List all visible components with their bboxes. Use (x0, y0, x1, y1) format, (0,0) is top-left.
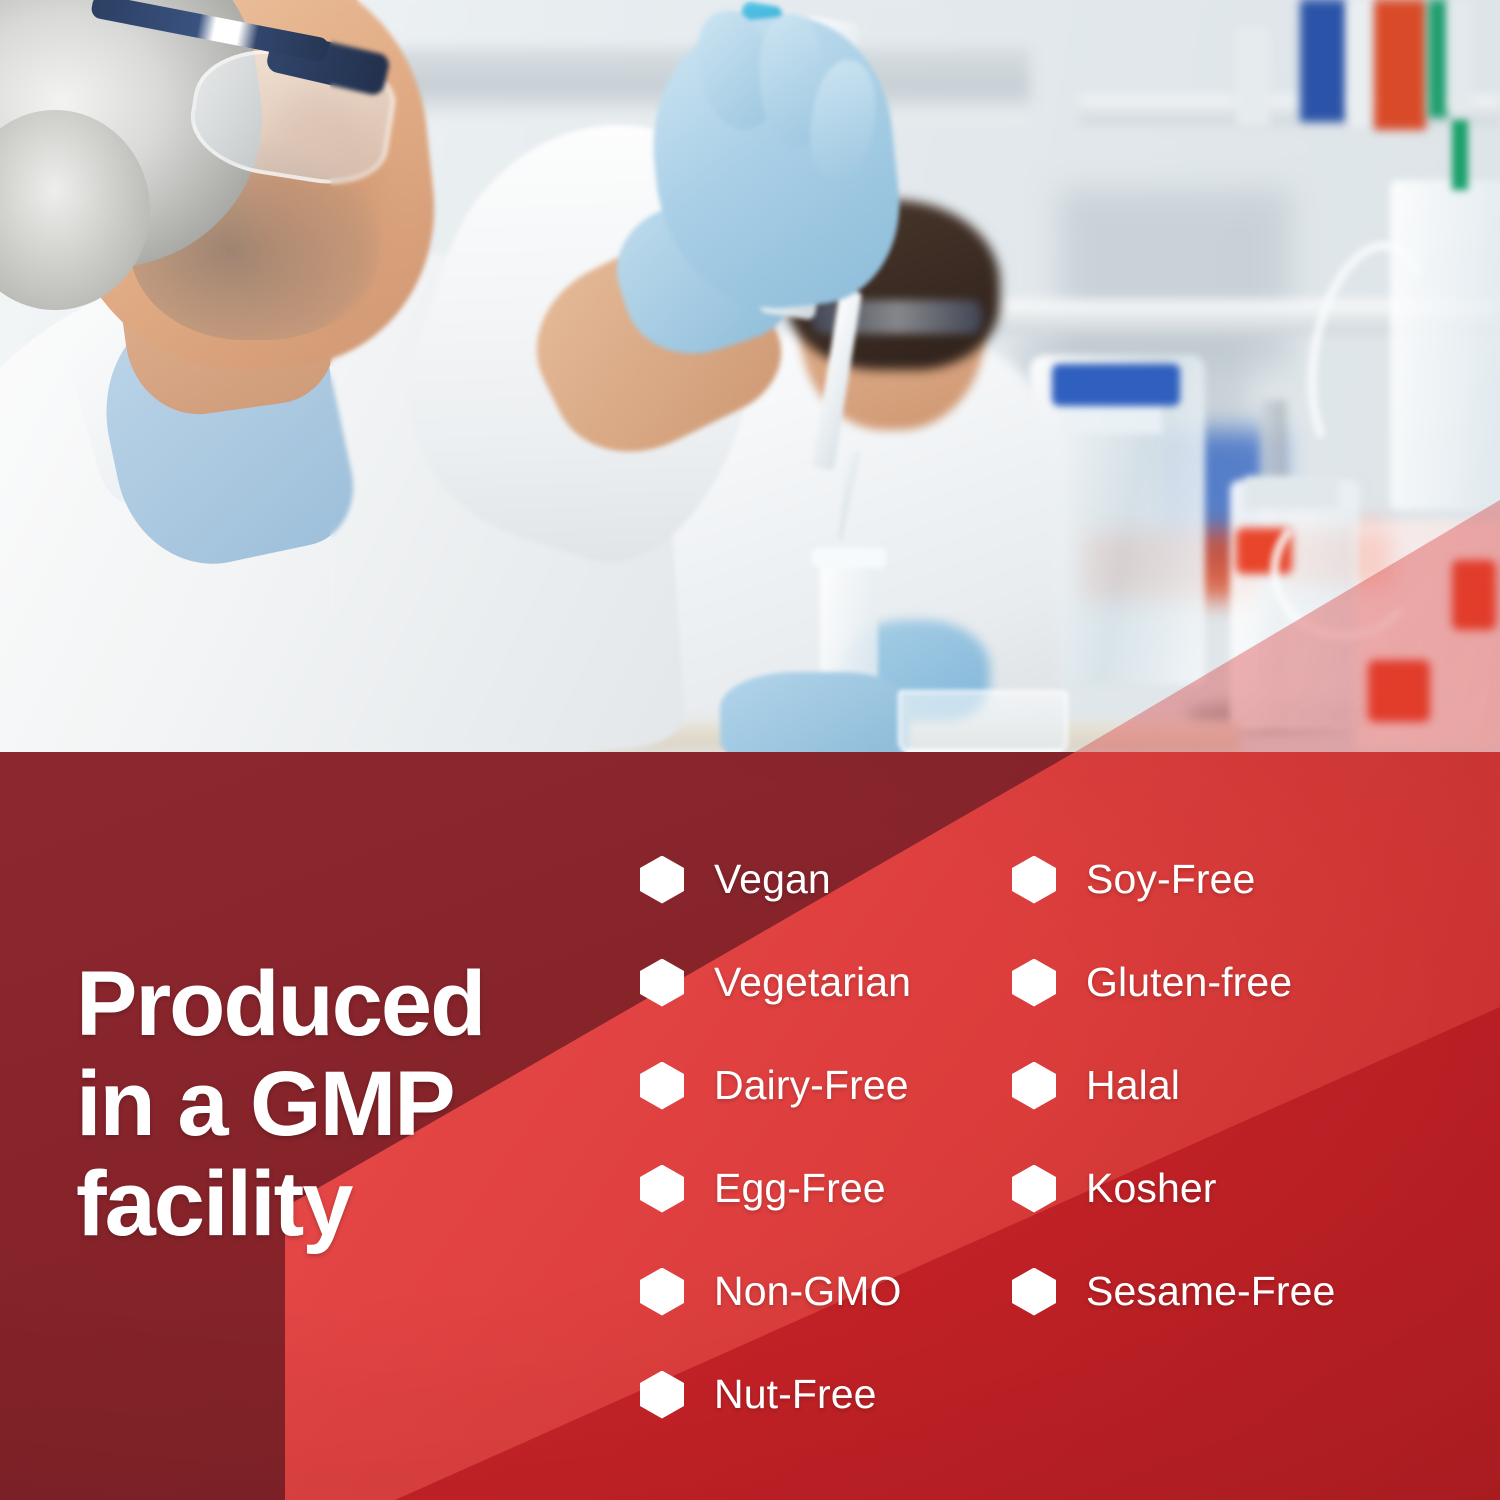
claim-item: Egg-Free (640, 1137, 911, 1240)
background-soft-focus (330, 0, 1500, 752)
hexagon-icon (640, 1371, 684, 1419)
claim-label: Dairy-Free (714, 1062, 909, 1109)
claim-item: Vegetarian (640, 931, 911, 1034)
hexagon-icon (1012, 1062, 1056, 1110)
claim-item: Gluten-free (1012, 931, 1335, 1034)
claim-item: Nut-Free (640, 1343, 911, 1446)
claim-label: Vegan (714, 856, 831, 903)
hexagon-icon (1012, 1165, 1056, 1213)
claim-item: Dairy-Free (640, 1034, 911, 1137)
claim-item: Sesame-Free (1012, 1240, 1335, 1343)
hexagon-icon (640, 959, 684, 1007)
hexagon-icon (640, 1268, 684, 1316)
claim-label: Vegetarian (714, 959, 911, 1006)
claim-item: Vegan (640, 828, 911, 931)
claim-item: Halal (1012, 1034, 1335, 1137)
claim-label: Sesame-Free (1086, 1268, 1335, 1315)
laboratory-photo (0, 0, 1500, 752)
claim-label: Non-GMO (714, 1268, 902, 1315)
title-line-3: facility (76, 1154, 596, 1254)
infographic-canvas: Produced in a GMP facility Vegan Vegetar… (0, 0, 1500, 1500)
claim-item: Non-GMO (640, 1240, 911, 1343)
claim-label: Nut-Free (714, 1371, 877, 1418)
claim-label: Gluten-free (1086, 959, 1292, 1006)
hexagon-icon (640, 856, 684, 904)
claim-label: Halal (1086, 1062, 1180, 1109)
hexagon-icon (640, 1165, 684, 1213)
claim-label: Soy-Free (1086, 856, 1255, 903)
title-line-1: Produced (76, 954, 596, 1054)
hexagon-icon (640, 1062, 684, 1110)
claim-item: Kosher (1012, 1137, 1335, 1240)
claims-column-left: Vegan Vegetarian Dairy-Free Egg-Free Non… (640, 828, 911, 1446)
claims-column-right: Soy-Free Gluten-free Halal Kosher Sesame… (1012, 828, 1335, 1343)
hexagon-icon (1012, 1268, 1056, 1316)
title-line-2: in a GMP (76, 1054, 596, 1154)
claim-label: Kosher (1086, 1165, 1217, 1212)
hexagon-icon (1012, 959, 1056, 1007)
page-title: Produced in a GMP facility (76, 954, 596, 1255)
claim-label: Egg-Free (714, 1165, 886, 1212)
claim-item: Soy-Free (1012, 828, 1335, 931)
hexagon-icon (1012, 856, 1056, 904)
